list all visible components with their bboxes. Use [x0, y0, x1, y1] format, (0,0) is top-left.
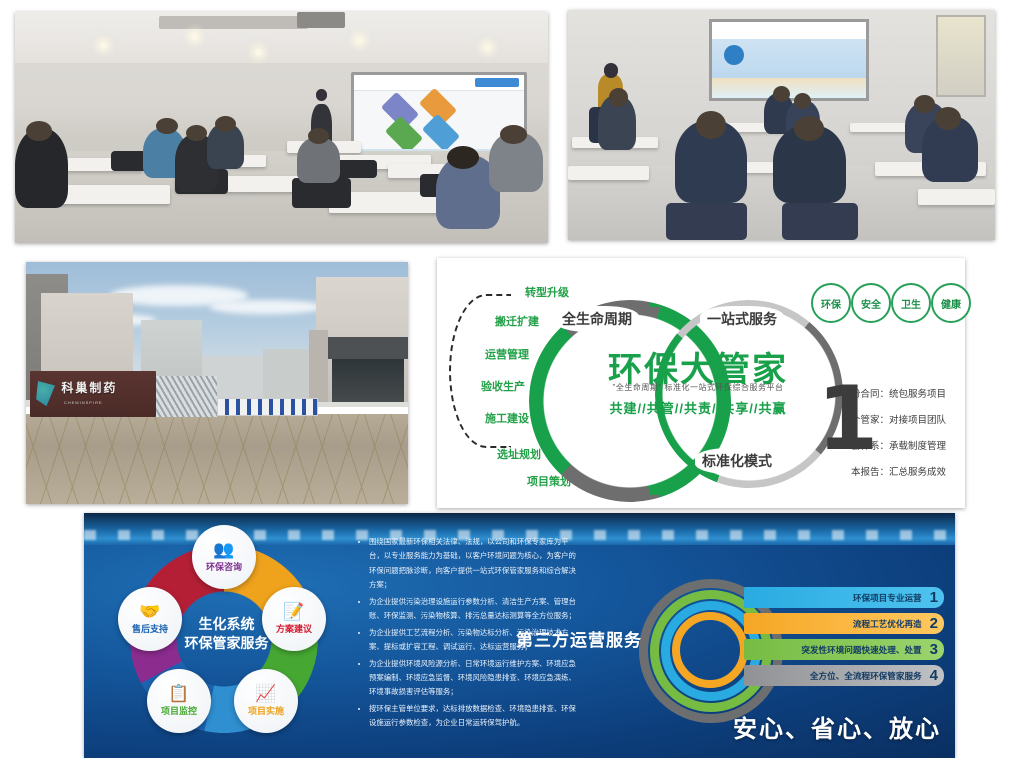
wheel-node-label: 项目实施 — [248, 704, 284, 717]
gatehouse-glass — [332, 359, 405, 403]
ring-bubble-lifecycle: 全生命周期 — [555, 306, 639, 332]
hand-support-icon: 🤝 — [139, 603, 160, 620]
badge-health: 健康 — [931, 283, 971, 323]
diagram-subtitle: "全生命周期" 标准化一站式环保综合服务平台 — [573, 382, 823, 393]
stage-label-5: 选址规划 — [497, 446, 541, 462]
ground — [26, 414, 408, 504]
service-bar-label: 全方位、全流程环保管家服务 — [810, 670, 922, 682]
service-bar-number: 2 — [930, 616, 938, 631]
company-logo-icon — [36, 381, 55, 406]
wheel-node-monitoring[interactable]: 📋 项目监控 — [147, 669, 211, 733]
stage-label-4: 施工建设 — [485, 410, 529, 426]
badge-environment: 环保 — [811, 283, 851, 323]
description-item: 围绕国家最新环保相关法律、法规，以公司和环保专家库为平台，以专业服务能力为基础，… — [369, 535, 581, 593]
wheel-node-label: 环保咨询 — [206, 560, 242, 573]
training-room-presentation-photo — [15, 12, 548, 243]
factory-sign-subtext: CHEMINSPIRE — [64, 400, 103, 405]
projector — [297, 12, 345, 28]
wheel-node-label: 方案建议 — [276, 622, 312, 635]
ring-bubble-standard: 标准化模式 — [695, 448, 779, 474]
retractable-gate — [156, 376, 217, 417]
road-barrier — [217, 398, 318, 417]
diagram-cooperation: 共建//共管//共责//共享//共赢 — [573, 398, 823, 417]
monitor-chart-icon: 📈 — [255, 685, 276, 702]
number-item-2: 套体系：承载制度管理 — [851, 438, 946, 452]
wheel-node-proposal[interactable]: 📝 方案建议 — [262, 587, 326, 651]
service-wheel-center-title: 生化系统 环保管家服务 — [179, 615, 274, 653]
wheel-node-implementation[interactable]: 📈 项目实施 — [234, 669, 298, 733]
service-bar-4[interactable]: 全方位、全流程环保管家服务 4 — [744, 665, 944, 686]
description-item: 为企业提供环境风险源分析、日常环境运行维护方案、环境应急预案编制、环境应急监督、… — [369, 657, 581, 700]
badge-safety: 安全 — [851, 283, 891, 323]
gatehouse-roof — [328, 337, 408, 359]
document-edit-icon: 📝 — [283, 603, 304, 620]
room-background — [15, 12, 548, 243]
service-bar-number: 4 — [930, 668, 938, 683]
stage-label-0: 转型升级 — [525, 284, 569, 300]
service-bar-number: 3 — [930, 642, 938, 657]
service-bar-label: 突发性环境问题快速处理、处置 — [801, 644, 921, 656]
attendee — [297, 137, 340, 183]
service-bar-1[interactable]: 环保项目专业运营 1 — [744, 587, 944, 608]
factory-gate-photo: 科巢制药 CHEMINSPIRE — [26, 262, 408, 504]
ring-bubble-onestop: 一站式服务 — [700, 306, 784, 332]
wheel-node-label: 售后支持 — [132, 622, 168, 635]
service-bar-label: 流程工艺优化再造 — [853, 618, 922, 630]
ceiling — [15, 12, 548, 63]
wheel-node-consulting[interactable]: 👥 环保咨询 — [192, 525, 256, 589]
gatehouse-pillar — [309, 330, 328, 403]
description-item: 按环保主管单位要求，达标排放数据检查、环境隐患排查、环保设施运行参数检查，为企业… — [369, 702, 581, 731]
service-bar-label: 环保项目专业运营 — [853, 592, 922, 604]
stage-label-2: 运营管理 — [485, 346, 529, 362]
number-item-1: 个管家：对接项目团队 — [851, 412, 946, 426]
ceiling-light — [255, 49, 262, 56]
description-item: 为企业提供污染治理设施运行参数分析、清洁生产方案、管理台账、环保监测、污染物核算… — [369, 595, 581, 624]
panel-slogan: 安心、省心、放心 — [721, 709, 953, 744]
projection-screen — [709, 19, 869, 101]
ceiling-light — [191, 33, 198, 40]
people-icon: 👥 — [213, 541, 234, 558]
service-bar-2[interactable]: 流程工艺优化再造 2 — [744, 613, 944, 634]
wheel-node-label: 项目监控 — [161, 704, 197, 717]
factory-sign: 科巢制药 CHEMINSPIRE — [30, 371, 156, 417]
window — [936, 15, 987, 97]
service-bars: 环保项目专业运营 1 流程工艺优化再造 2 突发性环境问题快速处理、处置 3 全… — [744, 587, 944, 691]
third-party-title: 第三方运营服务 — [516, 626, 642, 651]
service-bar-number: 1 — [930, 590, 938, 605]
number-item-0: 份合同：统包服务项目 — [851, 386, 946, 400]
number-item-3: 本报告：汇总服务成效 — [851, 464, 946, 478]
eco-steward-service-banner: 生化系统 环保管家服务 👥 环保咨询 📝 方案建议 📈 项目实施 📋 项目监控 … — [84, 513, 955, 758]
clipboard-check-icon: 📋 — [168, 685, 189, 702]
wheel-node-aftersales[interactable]: 🤝 售后支持 — [118, 587, 182, 651]
center-title-line2: 环保管家服务 — [179, 634, 274, 653]
center-title-line1: 生化系统 — [179, 615, 274, 634]
factory-sign-text: 科巢制药 — [61, 379, 117, 396]
training-room-audience-photo — [568, 10, 995, 240]
stage-label-1: 搬迁扩建 — [495, 313, 539, 329]
room-background — [568, 10, 995, 240]
badge-hygiene: 卫生 — [891, 283, 931, 323]
service-bar-3[interactable]: 突发性环境问题快速处理、处置 3 — [744, 639, 944, 660]
eco-steward-diagram-panel: 转型升级 搬迁扩建 运营管理 验收生产 施工建设 选址规划 项目策划 全生命周期… — [437, 258, 965, 508]
stage-label-3: 验收生产 — [481, 378, 525, 394]
